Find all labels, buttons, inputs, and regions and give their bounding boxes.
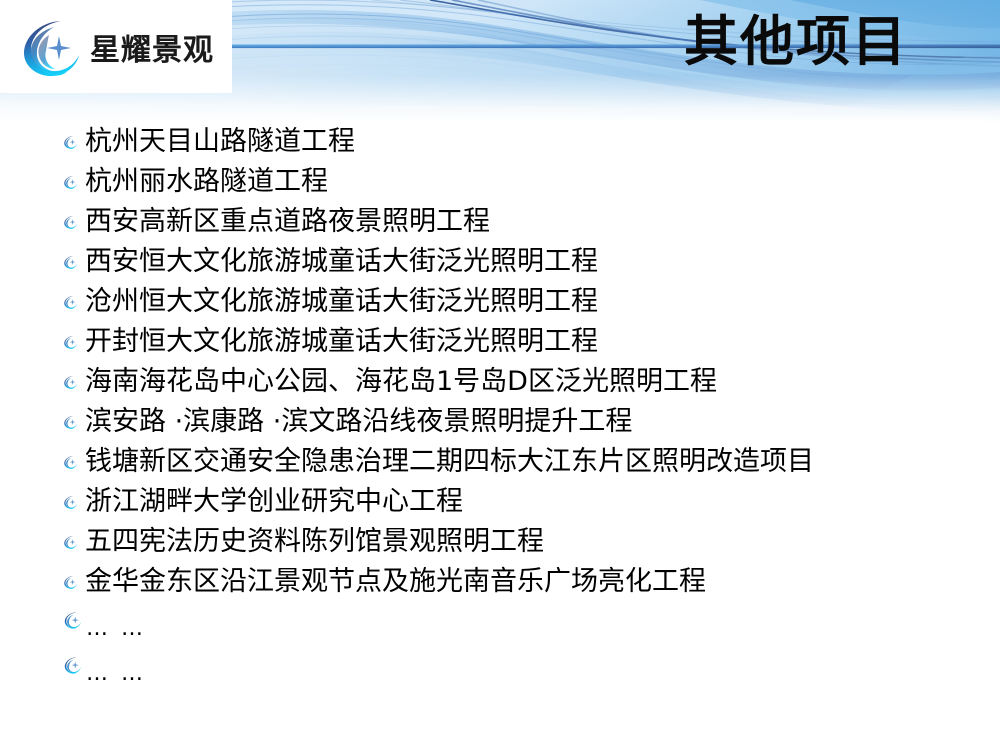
list-item: 金华金东区沿江景观节点及施光南音乐广场亮化工程	[0, 562, 1000, 602]
list-item-label: 五四宪法历史资料陈列馆景观照明工程	[85, 526, 544, 558]
list-item: 滨安路 ·滨康路 ·滨文路沿线夜景照明提升工程	[0, 402, 1000, 442]
list-item: 浙江湖畔大学创业研究中心工程	[0, 482, 1000, 522]
slide-title: 其他项目	[684, 12, 908, 72]
list-item: 五四宪法历史资料陈列馆景观照明工程	[0, 522, 1000, 562]
list-item: 钱塘新区交通安全隐患治理二期四标大江东片区照明改造项目	[0, 442, 1000, 482]
presentation-slide: 其他项目	[0, 0, 1000, 750]
crescent-bullet-icon	[62, 454, 78, 470]
list-item: 杭州天目山路隧道工程	[0, 122, 1000, 162]
list-item: … …	[0, 647, 1000, 692]
crescent-bullet-icon	[62, 254, 78, 270]
list-item: 沧州恒大文化旅游城童话大街泛光照明工程	[0, 282, 1000, 322]
list-item: 西安高新区重点道路夜景照明工程	[0, 202, 1000, 242]
list-item-label: 钱塘新区交通安全隐患治理二期四标大江东片区照明改造项目	[85, 446, 814, 478]
list-item-label: 杭州天目山路隧道工程	[85, 126, 355, 158]
list-item-label: 西安高新区重点道路夜景照明工程	[85, 206, 490, 238]
crescent-bullet-icon	[62, 414, 78, 430]
list-item-label: 开封恒大文化旅游城童话大街泛光照明工程	[85, 326, 598, 358]
company-name: 星耀景观	[90, 25, 214, 69]
list-item: 开封恒大文化旅游城童话大街泛光照明工程	[0, 322, 1000, 362]
list-item-label: 西安恒大文化旅游城童话大街泛光照明工程	[85, 246, 598, 278]
crescent-bullet-icon	[62, 334, 78, 350]
list-item-label: 滨安路 ·滨康路 ·滨文路沿线夜景照明提升工程	[85, 406, 632, 438]
crescent-bullet-icon	[62, 374, 78, 390]
list-item-label: 浙江湖畔大学创业研究中心工程	[85, 486, 463, 518]
crescent-bullet-icon	[62, 655, 82, 675]
company-logo: 星耀景观	[0, 0, 232, 93]
crescent-bullet-icon	[62, 534, 78, 550]
crescent-bullet-icon	[62, 610, 82, 630]
list-item-label: … …	[86, 613, 146, 645]
crescent-bullet-icon	[62, 494, 78, 510]
list-item-label: 沧州恒大文化旅游城童话大街泛光照明工程	[85, 286, 598, 318]
list-item: 杭州丽水路隧道工程	[0, 162, 1000, 202]
crescent-bullet-icon	[62, 294, 78, 310]
crescent-star-logo-icon	[14, 11, 86, 83]
list-item: … …	[0, 602, 1000, 647]
crescent-bullet-icon	[62, 174, 78, 190]
list-item: 西安恒大文化旅游城童话大街泛光照明工程	[0, 242, 1000, 282]
list-item-label: 杭州丽水路隧道工程	[85, 166, 328, 198]
project-list: 杭州天目山路隧道工程杭州丽水路隧道工程西安高新区重点道路夜景照明工程西安恒大文化…	[0, 122, 1000, 692]
list-item-label: 海南海花岛中心公园、海花岛1号岛D区泛光照明工程	[85, 366, 717, 398]
list-item: 海南海花岛中心公园、海花岛1号岛D区泛光照明工程	[0, 362, 1000, 402]
list-item-label: 金华金东区沿江景观节点及施光南音乐广场亮化工程	[85, 566, 706, 598]
crescent-bullet-icon	[62, 134, 78, 150]
crescent-bullet-icon	[62, 574, 78, 590]
list-item-label: … …	[86, 658, 146, 690]
crescent-bullet-icon	[62, 214, 78, 230]
